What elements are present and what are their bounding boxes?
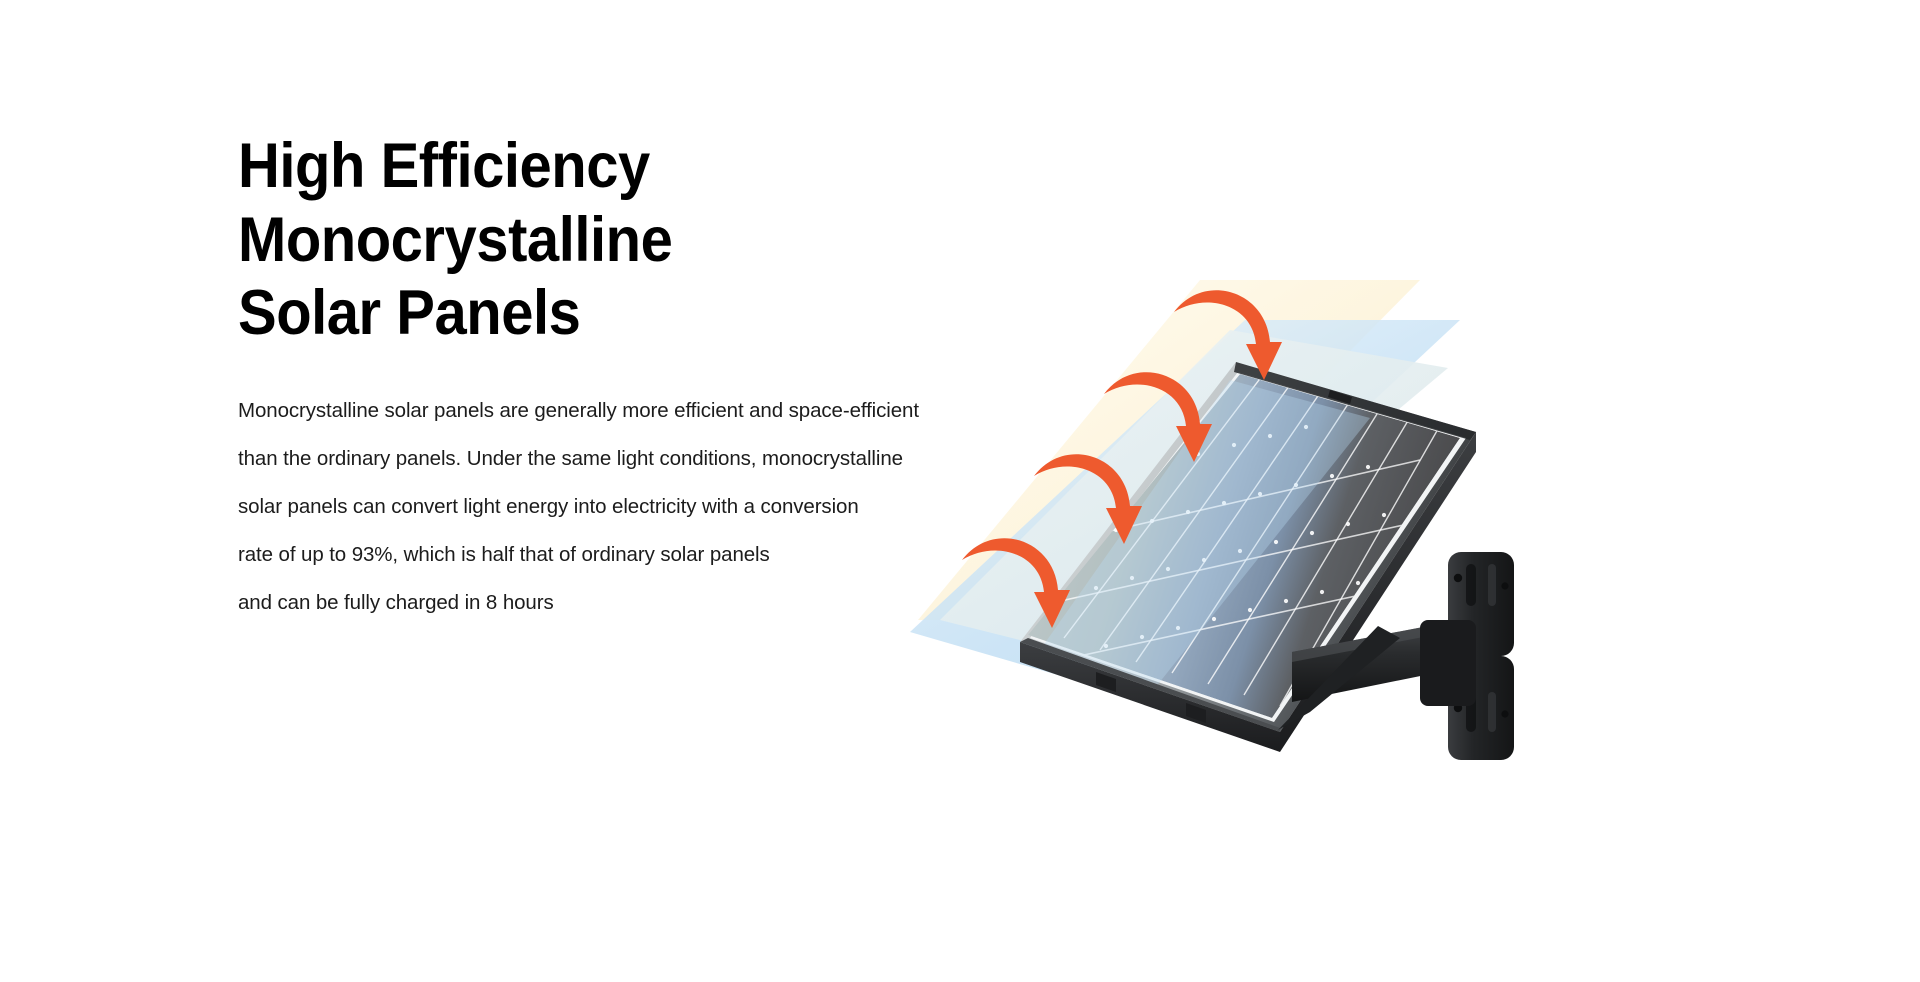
solar-panel-illustration	[900, 320, 1700, 880]
bracket-screw	[1454, 574, 1462, 582]
page-title: High Efficiency Monocrystalline Solar Pa…	[238, 130, 992, 351]
product-feature-page: High Efficiency Monocrystalline Solar Pa…	[0, 0, 1920, 982]
bracket-screw	[1501, 710, 1508, 717]
bracket-screw	[1501, 582, 1508, 589]
